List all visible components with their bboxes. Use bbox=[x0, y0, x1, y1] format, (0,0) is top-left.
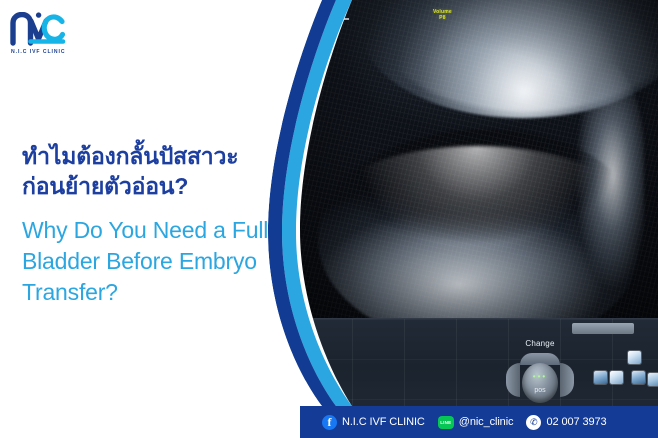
console-tab-chip[interactable] bbox=[572, 323, 634, 334]
save-disk-icon-2[interactable] bbox=[632, 371, 645, 384]
nic-monogram-icon bbox=[10, 12, 70, 48]
trackball-arc-left[interactable] bbox=[506, 363, 520, 397]
facebook-icon: f bbox=[322, 415, 337, 430]
footer-phone[interactable]: ✆ 02 007 3973 bbox=[526, 415, 606, 430]
line-icon: LINE bbox=[438, 416, 454, 429]
logo-caption: N.I.C IVF CLINIC bbox=[11, 49, 66, 55]
footer-facebook-label: N.I.C IVF CLINIC bbox=[342, 416, 425, 428]
print-icon[interactable] bbox=[648, 373, 658, 386]
contact-footer-bar: f N.I.C IVF CLINIC LINE @nic_clinic ✆ 02… bbox=[300, 406, 658, 438]
trackball-arc-right[interactable] bbox=[560, 363, 574, 397]
headline-english-line-1: Why Do You Need a Full bbox=[22, 215, 292, 246]
headline-thai: ทำไมต้องกลั้นปัสสาวะ ก่อนย้ายตัวอ่อน? bbox=[22, 141, 292, 201]
headline-thai-line-2: ก่อนย้ายตัวอ่อน? bbox=[22, 171, 292, 201]
ultrasound-screen: Volume P8 bbox=[300, 0, 658, 352]
footer-phone-label: 02 007 3973 bbox=[546, 416, 606, 428]
trackball-label: Change bbox=[500, 339, 580, 348]
pen-tool-icon[interactable] bbox=[628, 351, 641, 364]
phone-icon: ✆ bbox=[526, 415, 541, 430]
headline-english-line-3: Transfer? bbox=[22, 277, 292, 308]
trackball-ball[interactable] bbox=[522, 363, 558, 403]
annotate-icon[interactable] bbox=[610, 371, 623, 384]
headline-english-line-2: Bladder Before Embryo bbox=[22, 246, 292, 277]
ultrasound-scale-tick bbox=[340, 18, 349, 20]
footer-line-label: @nic_clinic bbox=[459, 416, 514, 428]
ultrasound-overlay-label-line2: P8 bbox=[433, 15, 452, 21]
headline-block: ทำไมต้องกลั้นปัสสาวะ ก่อนย้ายตัวอ่อน? Wh… bbox=[22, 141, 292, 308]
footer-line[interactable]: LINE @nic_clinic bbox=[438, 416, 514, 429]
footer-left-white bbox=[0, 406, 300, 438]
save-disk-icon-1[interactable] bbox=[594, 371, 607, 384]
ultrasound-vignette bbox=[300, 0, 658, 352]
ultrasound-overlay-label: Volume P8 bbox=[433, 9, 452, 21]
clinic-logo[interactable]: N.I.C IVF CLINIC bbox=[10, 12, 106, 60]
headline-english: Why Do You Need a Full Bladder Before Em… bbox=[22, 201, 292, 308]
trackball-value-label: pos bbox=[522, 387, 558, 394]
ultrasound-machine-photo: Volume P8 Change ••• pos bbox=[300, 0, 658, 438]
headline-thai-line-1: ทำไมต้องกลั้นปัสสาวะ bbox=[22, 141, 292, 171]
promotional-poster: Volume P8 Change ••• pos bbox=[0, 0, 658, 438]
trackball-led-indicator: ••• bbox=[526, 373, 554, 381]
console-icon-bank bbox=[592, 351, 658, 403]
footer-facebook[interactable]: f N.I.C IVF CLINIC bbox=[322, 415, 425, 430]
